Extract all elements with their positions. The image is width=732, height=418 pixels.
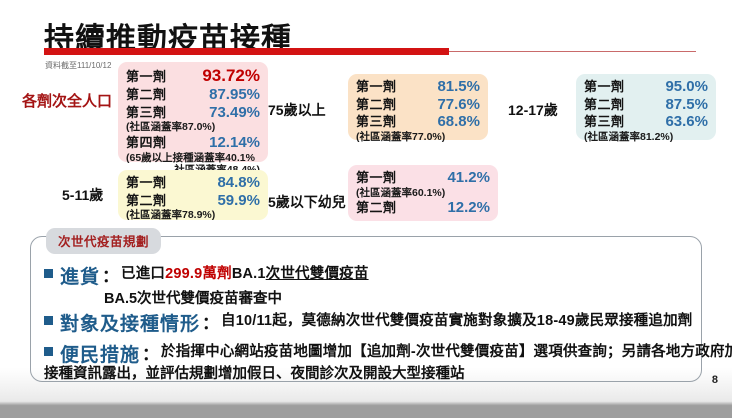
dose-value: 81.5% (423, 78, 480, 96)
coverage-note: (社區涵蓋率60.1%) (356, 187, 490, 200)
dose-value: 12.2% (433, 199, 490, 217)
coverage-note: (社區涵蓋率81.2%) (584, 131, 708, 144)
stat-row: 第一劑 95.0% (584, 78, 708, 96)
stat-row: 第三劑 73.49% (126, 104, 260, 122)
dose-label: 第一劑 (126, 69, 167, 84)
bullet-label: 進貨 (60, 262, 100, 289)
bullet-square-icon (44, 269, 53, 278)
dose-value: 68.8% (423, 113, 480, 131)
data-asof-stamp: 資料截至111/10/12 (45, 60, 111, 71)
dose-label: 第二劑 (584, 97, 625, 112)
dose-label: 第四劑 (126, 135, 167, 150)
dose-value: 59.9% (203, 192, 260, 210)
dose-label: 第二劑 (126, 193, 167, 208)
group-label-all-population: 各劑次全人口 (22, 90, 112, 111)
stat-row: 第二劑 87.95% (126, 86, 260, 104)
stat-row: 第一劑 81.5% (356, 78, 480, 96)
statbox-all-population: 第一劑 93.72% 第二劑 87.95% 第三劑 73.49% (社區涵蓋率8… (118, 62, 268, 162)
bullet-text: 已進口299.9萬劑BA.1次世代雙價疫苗 (121, 262, 369, 283)
bullet-colon: ： (200, 309, 221, 334)
stat-row: 第二劑 59.9% (126, 192, 260, 210)
dose-label: 第一劑 (584, 79, 625, 94)
dose-value: 87.95% (195, 86, 260, 104)
bullet-square-icon (44, 316, 53, 325)
stat-row: 第三劑 63.6% (584, 113, 708, 131)
stat-row: 第一劑 41.2% (356, 169, 490, 187)
dose-value: 84.8% (203, 174, 260, 192)
group-label-age5-11: 5-11歲 (62, 185, 103, 205)
dose-value: 63.6% (651, 113, 708, 131)
dose-label: 第一劑 (356, 170, 397, 185)
dose-value: 12.14% (195, 134, 260, 152)
dose-label: 第二劑 (356, 97, 397, 112)
coverage-note: (65歲以上接種涵蓋率40.1% (126, 152, 260, 165)
dose-value: 87.5% (651, 96, 708, 114)
bullet-item-target-group: 對象及接種情形 ： 自10/11起，莫德納次世代雙價疫苗實施對象擴及18-49歲… (44, 309, 692, 336)
bullet-text: 自10/11起，莫德納次世代雙價疫苗實施對象擴及18-49歲民眾接種追加劑 (221, 309, 692, 330)
dose-label: 第三劑 (126, 105, 167, 120)
slide-canvas: 持續推動疫苗接種 資料截至111/10/12 各劑次全人口 第一劑 93.72%… (0, 0, 732, 418)
stat-row: 第一劑 93.72% (126, 66, 260, 86)
dose-value: 73.49% (195, 104, 260, 122)
bullet-subline-convenience: 接種資訊露出，並評估規劃增加假日、夜間診次及開設大型接種站 (44, 362, 465, 383)
statbox-under5: 第一劑 41.2% (社區涵蓋率60.1%) 第二劑 12.2% (348, 165, 498, 221)
page-number: 8 (712, 374, 718, 386)
stat-row: 第二劑 87.5% (584, 96, 708, 114)
bullet-text: 於指揮中心網站疫苗地圖增加【追加劑-次世代雙價疫苗】選項供查詢；另請各地方政府加… (161, 340, 732, 361)
group-label-age75: 75歲以上 (268, 100, 326, 120)
dose-label: 第二劑 (356, 200, 397, 215)
stat-row: 第一劑 84.8% (126, 174, 260, 192)
panel-tag: 次世代疫苗規劃 (46, 228, 161, 254)
stat-row: 第二劑 77.6% (356, 96, 480, 114)
title-rule (44, 48, 449, 55)
stat-row: 第三劑 68.8% (356, 113, 480, 131)
dose-value: 41.2% (433, 169, 490, 187)
bullet-label: 對象及接種情形 (60, 309, 200, 336)
dose-value: 93.72% (188, 66, 260, 86)
dose-label: 第一劑 (356, 79, 397, 94)
dose-value: 77.6% (423, 96, 480, 114)
dose-label: 第三劑 (584, 114, 625, 129)
bullet-square-icon (44, 347, 53, 356)
stat-row: 第四劑 12.14% (126, 134, 260, 152)
coverage-note: (社區涵蓋率87.0%) (126, 121, 260, 134)
bullet-item-procurement: 進貨 ： 已進口299.9萬劑BA.1次世代雙價疫苗 (44, 262, 369, 289)
dose-label: 第三劑 (356, 114, 397, 129)
group-label-age12-17: 12-17歲 (508, 100, 558, 120)
group-label-under5: 5歲以下幼兒 (268, 192, 346, 212)
dose-label: 第一劑 (126, 175, 167, 190)
bullet-colon: ： (100, 262, 121, 287)
statbox-age12-17: 第一劑 95.0% 第二劑 87.5% 第三劑 63.6% (社區涵蓋率81.2… (576, 74, 716, 140)
dose-label: 第二劑 (126, 87, 167, 102)
coverage-note: (社區涵蓋率77.0%) (356, 131, 480, 144)
text-highlight-amount: 299.9萬劑 (165, 266, 232, 282)
text-mid: BA.1 (232, 266, 266, 282)
coverage-note: (社區涵蓋率78.9%) (126, 209, 260, 222)
stat-row: 第二劑 12.2% (356, 199, 490, 217)
text-pre: 已進口 (121, 266, 165, 282)
dose-value: 95.0% (651, 78, 708, 96)
bullet-subline-procurement: BA.5次世代雙價疫苗審查中 (104, 287, 282, 308)
statbox-age5-11: 第一劑 84.8% 第二劑 59.9% (社區涵蓋率78.9%) (118, 170, 268, 220)
statbox-age75: 第一劑 81.5% 第二劑 77.6% 第三劑 68.8% (社區涵蓋率77.0… (348, 74, 488, 140)
text-underline: 次世代雙價疫苗 (266, 266, 369, 282)
